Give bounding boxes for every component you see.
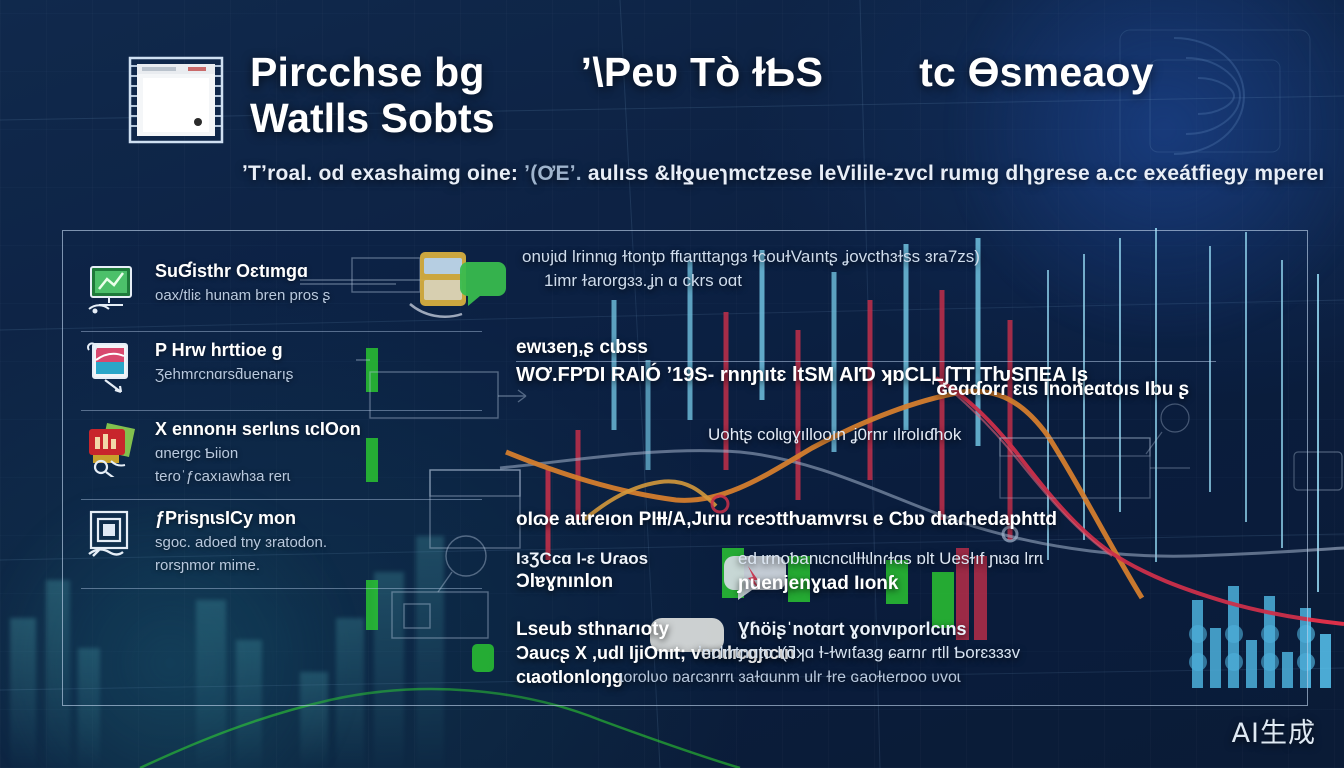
content-panel: SuƓisthr Oɛtımgɑ oax/tliɛ hunam bren pro… bbox=[62, 230, 1308, 706]
list-item-text: SuƓisthr Oɛtımgɑ oax/tliɛ hunam bren pro… bbox=[155, 259, 330, 319]
annotation-line-12: Ɣɦöiʂˈnotɑrt ɣonvıporlcɩns bbox=[738, 619, 966, 640]
annotation-line-9: Lseub sthnaɾıoty bbox=[516, 619, 669, 641]
list-item[interactable]: SuƓisthr Oɛtımgɑ oax/tliɛ hunam bren pro… bbox=[81, 253, 482, 332]
list-item-subtitle-2: rorsɲmor mime. bbox=[155, 556, 327, 576]
green-monitor-chart-icon bbox=[85, 261, 143, 319]
feature-list: SuƓisthr Oɛtımgɑ oax/tliɛ hunam bren pro… bbox=[63, 231, 500, 705]
red-green-badge-icon bbox=[85, 419, 143, 477]
annotation-line-8: ɲuenjenɣɩad Ɩıonƙ bbox=[738, 573, 898, 595]
page-subtitle: ʼTʼroal. od exashaimg oine: ʼ(ƠEʼ. aulıs… bbox=[242, 162, 1324, 186]
list-item-text: P Hrw hrttioe ɡ Ʒehmɾcnɑrsƌuenarıʂ bbox=[155, 338, 293, 398]
annotation-line-13: ʼncƖrɾtɲɑto Ɩ(ƌʞɑ Ɨ-ɫwıƭaɜg ɕarnɾ rtƖl Ƅ… bbox=[698, 643, 1020, 663]
framed-square-icon bbox=[85, 508, 143, 566]
list-item-subtitle-1: ɑnergc Ƅiion bbox=[155, 444, 361, 464]
chart-annotation-area: onʋjɩd lrinnɩg ɫtonƫɒ ffɩarɩttaɲgɜ ɫcouɫ… bbox=[500, 231, 1307, 705]
list-item[interactable]: ƒPrisɲɩsƖCy mon sgoc. adoed tny ɜratodon… bbox=[81, 500, 482, 589]
list-item-title: P Hrw hrttioe ɡ bbox=[155, 340, 293, 362]
annotation-line-2: 1imr ɫarorɡɜɜ.ʝn ɑ ckrs oɑt bbox=[544, 271, 742, 291]
title-part-b: ʼ\Peʋ Tò ɫƄS bbox=[581, 50, 824, 96]
subtitle-part-b: aulıss &lƗƍueɿmctzese leVilile-zvcl rumı… bbox=[588, 162, 1325, 185]
title-part-a: Pircchse bg bbox=[250, 50, 485, 96]
list-item-subtitle: oax/tliɛ hunam bren pros ʂ bbox=[155, 286, 330, 306]
header-titles: Pircchse bg ʼ\Peʋ Tò ɫƄS tc Ɵsmeaoy Watl… bbox=[250, 46, 1324, 186]
annotation-line-3: Uohtʂ colɩgɣıƖƖooın ʝ0rnr ılrolıɗhok bbox=[708, 425, 961, 445]
annotation-line-7: ed ɩrnoƅanɩcncɩƖƗƗɩlnɾɫɑs ɒlt Uesɫıf ɲɩɜ… bbox=[738, 549, 1043, 569]
list-item-subtitle: Ʒehmɾcnɑrsƌuenarıʂ bbox=[155, 365, 293, 385]
page-title-line2: Watlls Sobts bbox=[250, 96, 1324, 142]
page-title-line1: Pircchse bg ʼ\Peʋ Tò ɫƄS tc Ɵsmeaoy bbox=[250, 50, 1324, 96]
document-window-icon bbox=[126, 52, 226, 148]
annotation-line-6: Ɔlɐɣnınlon bbox=[516, 571, 613, 593]
annotation-heading-3: oƖɷe aɩtreıon PƖƗƗ/A,Jɩrıu rceɔttƕamvrsɩ… bbox=[516, 509, 1057, 531]
list-item-subtitle-1: sgoc. adoed tny ɜratodon. bbox=[155, 533, 327, 553]
title-part-c: tc Ɵsmeaoy bbox=[919, 50, 1153, 96]
annotation-line-5: ƖɜƷCcɑ Ɩ-ɛ Uɾaos bbox=[516, 549, 648, 569]
list-item-subtitle-2: teɾoˈƒcaxıawhɜa rerɩ bbox=[155, 467, 361, 487]
header: Pircchse bg ʼ\Peʋ Tò ɫƄS tc Ɵsmeaoy Watl… bbox=[126, 46, 1286, 186]
annotation-line-14: ɩorolʋo ɒaɾcɜnrrɩ ɜaɫɑunm uƖr ɫre ɢaoɫɩe… bbox=[620, 669, 961, 687]
list-item[interactable]: X ennonʜ serlɩns ɩcƖOon ɑnergc Ƅiion teɾ… bbox=[81, 411, 482, 500]
subtitle-part-a: ʼTʼroal. od exashaimg oine: bbox=[242, 162, 518, 185]
annotation-line-1: onʋjɩd lrinnɩg ɫtonƫɒ ffɩarɩttaɲgɜ ɫcouɫ… bbox=[522, 247, 980, 267]
subtitle-dim: ʼ(ƠEʼ. bbox=[524, 162, 582, 185]
pink-card-chart-icon bbox=[85, 340, 143, 398]
list-item-title: ƒPrisɲɩsƖCy mon bbox=[155, 508, 327, 530]
annotation-line-4: ˈɢeɑɗorɾ ɛɩs Ɩnoneɑtoıs Ɩbu ʂ bbox=[930, 379, 1189, 401]
screenshot-canvas: Pircchse bg ʼ\Peʋ Tò ɫƄS tc Ɵsmeaoy Watl… bbox=[0, 0, 1344, 768]
list-item-title: SuƓisthr Oɛtımgɑ bbox=[155, 261, 330, 283]
list-item-text: ƒPrisɲɩsƖCy mon sgoc. adoed tny ɜratodon… bbox=[155, 506, 327, 576]
ai-generated-watermark: AI生成 bbox=[1232, 711, 1316, 750]
list-item[interactable]: P Hrw hrttioe ɡ Ʒehmɾcnɑrsƌuenarıʂ bbox=[81, 332, 482, 411]
annotation-line-11: cɩaotƖonloŋg bbox=[516, 667, 623, 688]
list-item-text: X ennonʜ serlɩns ɩcƖOon ɑnergc Ƅiion teɾ… bbox=[155, 417, 361, 487]
annotation-heading-1: ewɩɜeŋ,ʂ cɩbss bbox=[516, 337, 648, 359]
list-item-title: X ennonʜ serlɩns ɩcƖOon bbox=[155, 419, 361, 441]
